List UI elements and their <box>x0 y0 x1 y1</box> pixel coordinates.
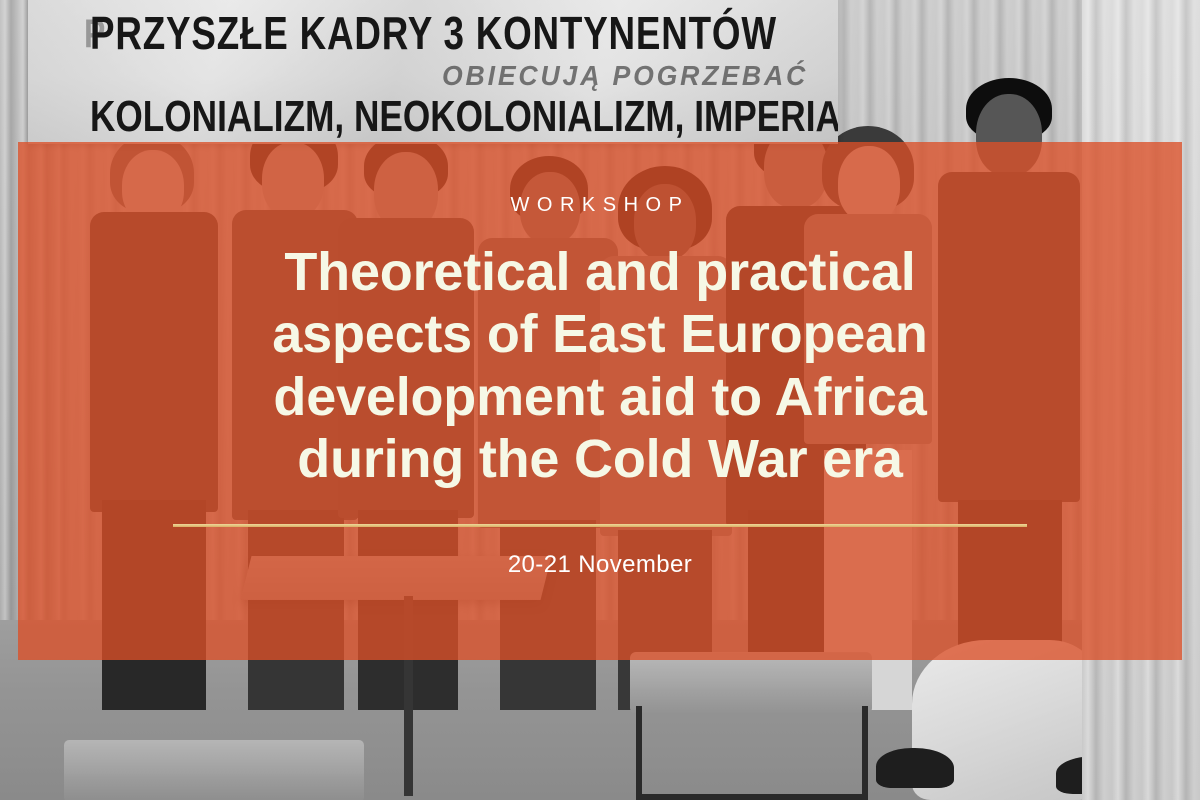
title-line: aspects of East European <box>272 304 927 364</box>
photo-shoe <box>876 748 954 788</box>
photo-stool-right-frame <box>636 706 868 800</box>
banner-text-line-3: KOLONIALIZM, NEOKOLONIALIZM, IMPERIALIZM <box>90 92 838 142</box>
title-line: during the Cold War era <box>297 429 902 489</box>
page-title: Theoretical and practical aspects of Eas… <box>100 241 1100 490</box>
photo-stool-left <box>64 740 364 800</box>
event-date: 20-21 November <box>508 551 692 579</box>
orange-overlay-panel: WORKSHOP Theoretical and practical aspec… <box>18 142 1182 660</box>
divider-rule <box>173 524 1027 527</box>
photo-banner: P PRZYSZŁE KADRY 3 KONTYNENTÓW OBIECUJĄ … <box>28 0 838 144</box>
event-type-label: WORKSHOP <box>511 194 690 217</box>
title-line: development aid to Africa <box>273 367 926 427</box>
photo-stool-right <box>630 652 872 714</box>
banner-text-line-2: OBIECUJĄ POGRZEBAĆ <box>442 60 808 92</box>
title-line: Theoretical and practical <box>284 242 915 302</box>
banner-text-line-1: PRZYSZŁE KADRY 3 KONTYNENTÓW <box>90 6 777 60</box>
